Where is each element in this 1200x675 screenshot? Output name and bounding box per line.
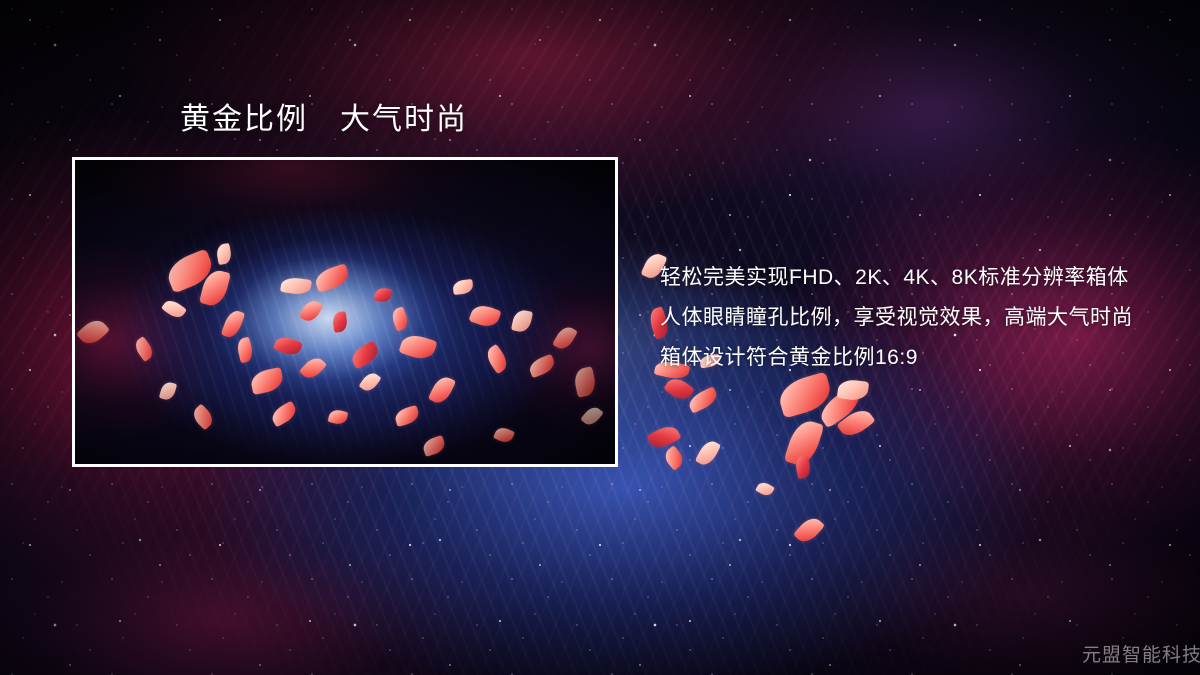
body-line: 人体眼睛瞳孔比例，享受视觉效果，高端大气时尚 xyxy=(660,298,1170,338)
body-text-block: 轻松完美实现FHD、2K、4K、8K标准分辨率箱体 人体眼睛瞳孔比例，享受视觉效… xyxy=(660,258,1170,378)
slide-canvas: 黄金比例 大气时尚 轻松完美实现FHD、2K、4K、8K标准分辨率箱体 人体眼睛… xyxy=(0,0,1200,675)
body-line: 轻松完美实现FHD、2K、4K、8K标准分辨率箱体 xyxy=(660,258,1170,298)
body-line: 箱体设计符合黄金比例16:9 xyxy=(660,338,1170,378)
watermark: 元盟智能科技 xyxy=(1082,640,1200,667)
video-preview-frame[interactable] xyxy=(72,157,618,467)
page-title: 黄金比例 大气时尚 xyxy=(180,100,468,140)
inset-vignette xyxy=(75,160,615,464)
